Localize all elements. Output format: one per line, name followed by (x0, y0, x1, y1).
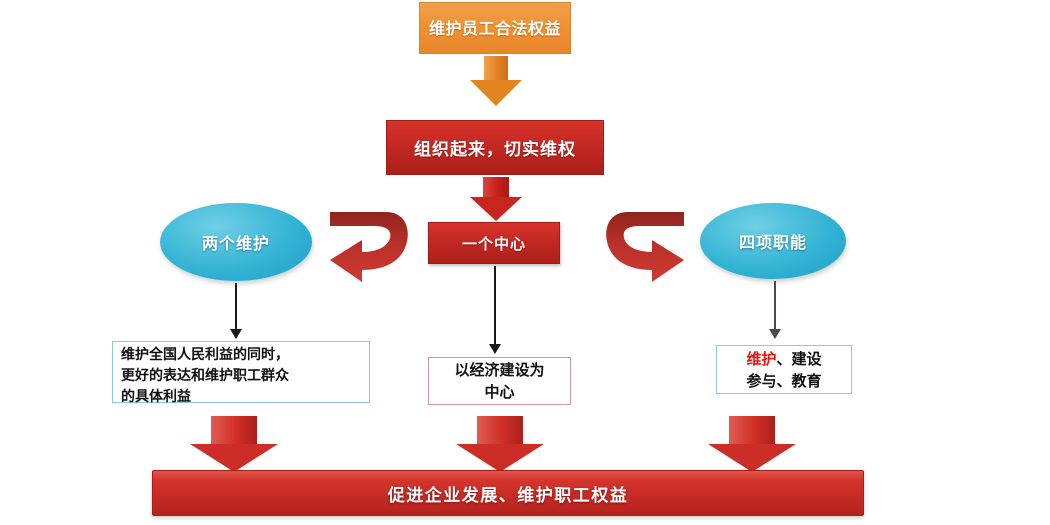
diagram-canvas: 维护员工合法权益 组织起来，切实维权 两个维护 一个中心 四项职能 (0, 0, 1050, 525)
connector-right-oval-head (769, 329, 781, 339)
note-box-center: 以经济建设为 中心 (428, 357, 571, 405)
note-right-rest: 、建设 (777, 350, 822, 368)
connector-right-oval (774, 281, 776, 331)
arrow-head (708, 444, 796, 472)
arrow-head (470, 197, 522, 221)
note-right-highlight: 维护 (746, 350, 776, 368)
arrow-head (456, 444, 544, 472)
note-left-line-3: 的具体利益 (121, 387, 363, 408)
note-center-line-1: 以经济建设为 (454, 359, 544, 381)
node-one-center: 一个中心 (428, 222, 560, 264)
arrow-down-fat-center (456, 416, 544, 472)
arrow-shaft (484, 56, 508, 80)
curved-arrow-right-icon (598, 200, 702, 286)
note-right-line-2: 参与、教育 (746, 370, 821, 392)
note-right-line-1: 维护、建设 (746, 348, 821, 370)
banner-conclusion: 促进企业发展、维护职工权益 (152, 470, 864, 516)
node-organize: 组织起来，切实维权 (386, 120, 604, 175)
arrow-shaft (483, 177, 509, 197)
arrow-down-orange (470, 56, 522, 106)
curved-arrow-left-icon (312, 200, 416, 286)
note-box-right: 维护、建设 参与、教育 (716, 345, 852, 394)
arrow-down-fat-right (708, 416, 796, 472)
arrow-head (470, 80, 522, 106)
node-oval-four-functions: 四项职能 (700, 203, 846, 279)
node-top-goal: 维护员工合法权益 (419, 2, 571, 54)
arrow-shaft (211, 416, 257, 444)
note-left-line-1: 维护全国人民利益的同时， (121, 345, 363, 366)
arrow-down-fat-left (190, 416, 278, 472)
arrow-down-red-organize-to-center (470, 177, 522, 221)
note-center-line-2: 中心 (454, 381, 544, 403)
connector-center-head (489, 344, 501, 354)
connector-center (494, 266, 496, 346)
arrow-head (190, 444, 278, 472)
note-left-line-2: 更好的表达和维护职工群众 (121, 366, 363, 387)
arrow-shaft (477, 416, 523, 444)
note-box-left: 维护全国人民利益的同时， 更好的表达和维护职工群众 的具体利益 (112, 341, 370, 403)
node-oval-two-safeguards: 两个维护 (160, 203, 312, 281)
connector-left-oval-head (230, 329, 242, 339)
connector-left-oval (235, 283, 237, 331)
arrow-shaft (729, 416, 775, 444)
